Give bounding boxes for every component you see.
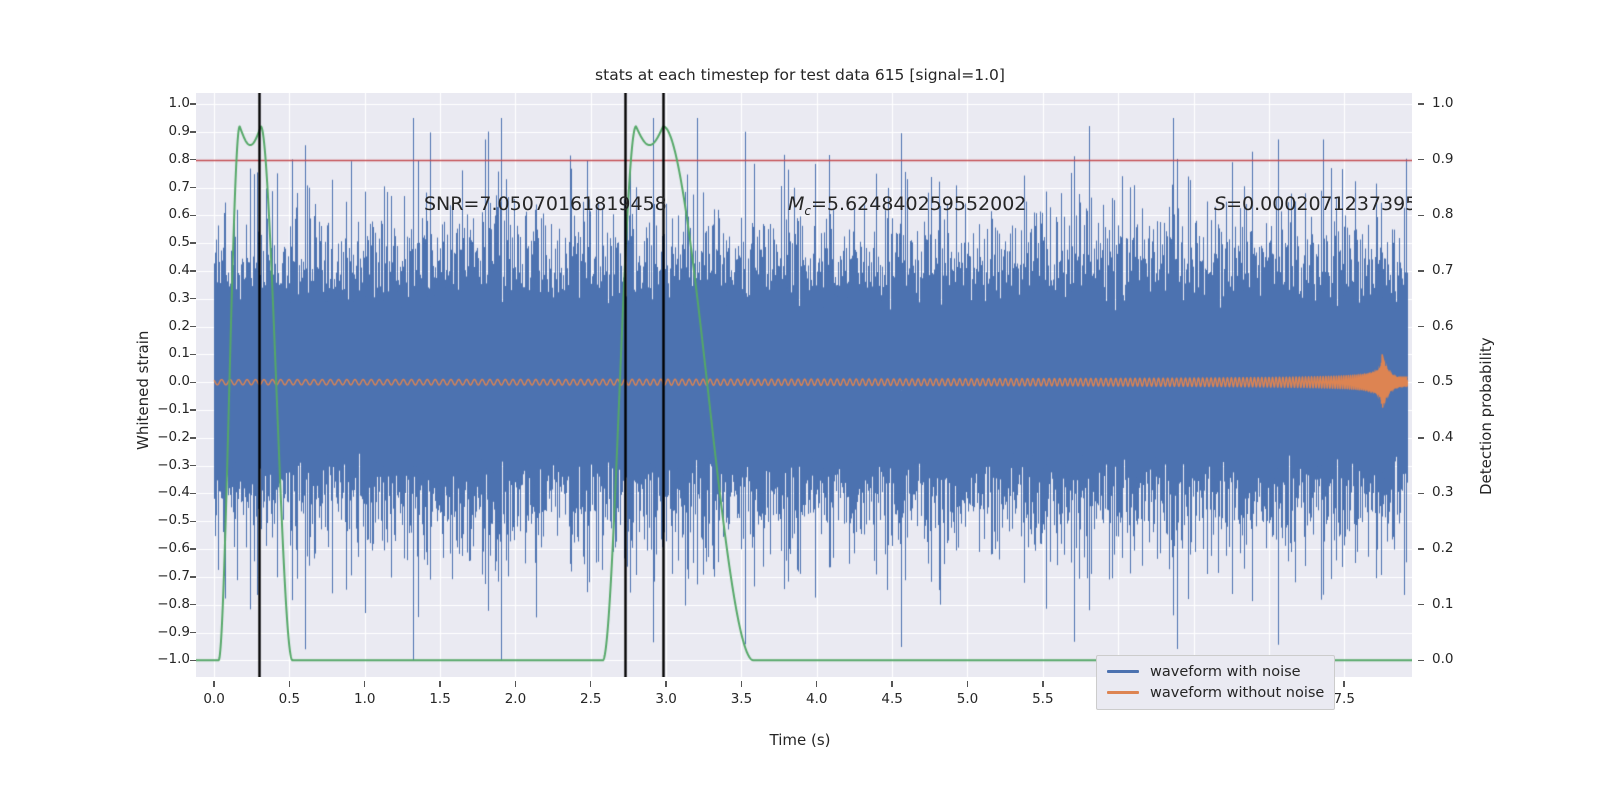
y-tick-label-left: 1.0 — [169, 95, 190, 111]
x-tick-label: 3.5 — [711, 691, 771, 707]
y-axis-label-right: Detection probability — [1477, 337, 1495, 495]
y-tick-label-left: −0.6 — [157, 540, 190, 556]
x-tick-label: 5.5 — [1013, 691, 1073, 707]
y-tick-label-left: −0.5 — [157, 512, 190, 528]
y-tick-label-right: 0.1 — [1432, 596, 1453, 612]
x-tick-label: 4.5 — [862, 691, 922, 707]
x-tick-mark — [590, 681, 591, 687]
x-tick-label: 1.5 — [410, 691, 470, 707]
y-tick-label-right: 0.7 — [1432, 262, 1453, 278]
y-tick-mark-right — [1418, 326, 1424, 327]
y-tick-mark-right — [1418, 604, 1424, 605]
y-tick-label-right: 0.9 — [1432, 151, 1453, 167]
x-tick-mark — [816, 681, 817, 687]
y-tick-mark-right — [1418, 103, 1424, 104]
y-tick-mark-right — [1418, 437, 1424, 438]
y-tick-label-left: −0.7 — [157, 568, 190, 584]
y-tick-mark-right — [1418, 215, 1424, 216]
y-tick-label-left: 0.0 — [169, 373, 190, 389]
x-tick-mark — [1042, 681, 1043, 687]
y-tick-label-left: 0.7 — [169, 179, 190, 195]
y-tick-label-left: 0.5 — [169, 234, 190, 250]
x-tick-label: 5.0 — [937, 691, 997, 707]
y-tick-label-left: 0.2 — [169, 318, 190, 334]
x-tick-mark — [439, 681, 440, 687]
y-tick-label-left: 0.3 — [169, 290, 190, 306]
x-tick-mark — [967, 681, 968, 687]
x-tick-mark — [289, 681, 290, 687]
y-tick-label-right: 0.8 — [1432, 206, 1453, 222]
y-tick-mark-right — [1418, 548, 1424, 549]
y-tick-label-left: 0.4 — [169, 262, 190, 278]
x-tick-mark — [364, 681, 365, 687]
x-tick-label: 0.0 — [184, 691, 244, 707]
legend-label: waveform without noise — [1150, 685, 1324, 701]
x-tick-label: 1.0 — [335, 691, 395, 707]
y-tick-label-left: 0.1 — [169, 345, 190, 361]
legend-swatch — [1107, 691, 1139, 694]
legend-item-1: waveform without noise — [1107, 682, 1324, 703]
y-tick-mark-right — [1418, 660, 1424, 661]
y-tick-mark-right — [1418, 493, 1424, 494]
x-tick-label: 4.0 — [787, 691, 847, 707]
x-tick-label: 2.0 — [485, 691, 545, 707]
y-tick-label-left: 0.8 — [169, 151, 190, 167]
y-tick-label-left: 0.6 — [169, 206, 190, 222]
y-tick-label-right: 0.6 — [1432, 318, 1453, 334]
y-tick-mark-right — [1418, 270, 1424, 271]
x-tick-mark — [515, 681, 516, 687]
y-tick-label-left: −1.0 — [157, 651, 190, 667]
x-tick-mark — [891, 681, 892, 687]
chart-title: stats at each timestep for test data 615… — [0, 66, 1600, 84]
y-tick-mark-right — [1418, 382, 1424, 383]
annotation-snr: SNR=7.05070161819458 — [424, 193, 667, 215]
y-tick-label-right: 0.5 — [1432, 373, 1453, 389]
y-tick-label-left: −0.4 — [157, 484, 190, 500]
annotation-chirp-mass: Mc=5.624840259552002 — [788, 193, 1026, 218]
legend: waveform with noisewaveform without nois… — [1096, 655, 1335, 710]
x-tick-mark — [741, 681, 742, 687]
x-tick-label: 2.5 — [561, 691, 621, 707]
legend-item-0: waveform with noise — [1107, 661, 1324, 682]
x-tick-label: 3.0 — [636, 691, 696, 707]
y-tick-mark-right — [1418, 159, 1424, 160]
y-tick-label-right: 0.0 — [1432, 651, 1453, 667]
y-tick-label-left: −0.1 — [157, 401, 190, 417]
y-tick-label-right: 0.4 — [1432, 429, 1453, 445]
x-tick-mark — [213, 681, 214, 687]
y-tick-label-left: −0.9 — [157, 624, 190, 640]
y-tick-label-right: 1.0 — [1432, 95, 1453, 111]
y-tick-label-left: −0.3 — [157, 457, 190, 473]
y-tick-label-left: −0.2 — [157, 429, 190, 445]
y-axis-label-left: Whitened strain — [134, 331, 152, 450]
x-tick-mark — [665, 681, 666, 687]
legend-label: waveform with noise — [1150, 664, 1301, 680]
plot-canvas — [196, 93, 1412, 677]
x-tick-label: 0.5 — [259, 691, 319, 707]
x-axis-label: Time (s) — [0, 731, 1600, 749]
y-tick-label-left: −0.8 — [157, 596, 190, 612]
y-tick-label-left: 0.9 — [169, 123, 190, 139]
x-tick-mark — [1343, 681, 1344, 687]
plot-area: SNR=7.05070161819458 Mc=5.62484025955200… — [196, 93, 1412, 677]
y-tick-label-right: 0.2 — [1432, 540, 1453, 556]
legend-swatch — [1107, 670, 1139, 673]
annotation-statistic: S=0.00020712373952846974 — [1214, 193, 1412, 215]
y-tick-label-right: 0.3 — [1432, 484, 1453, 500]
figure-root: stats at each timestep for test data 615… — [0, 0, 1600, 800]
